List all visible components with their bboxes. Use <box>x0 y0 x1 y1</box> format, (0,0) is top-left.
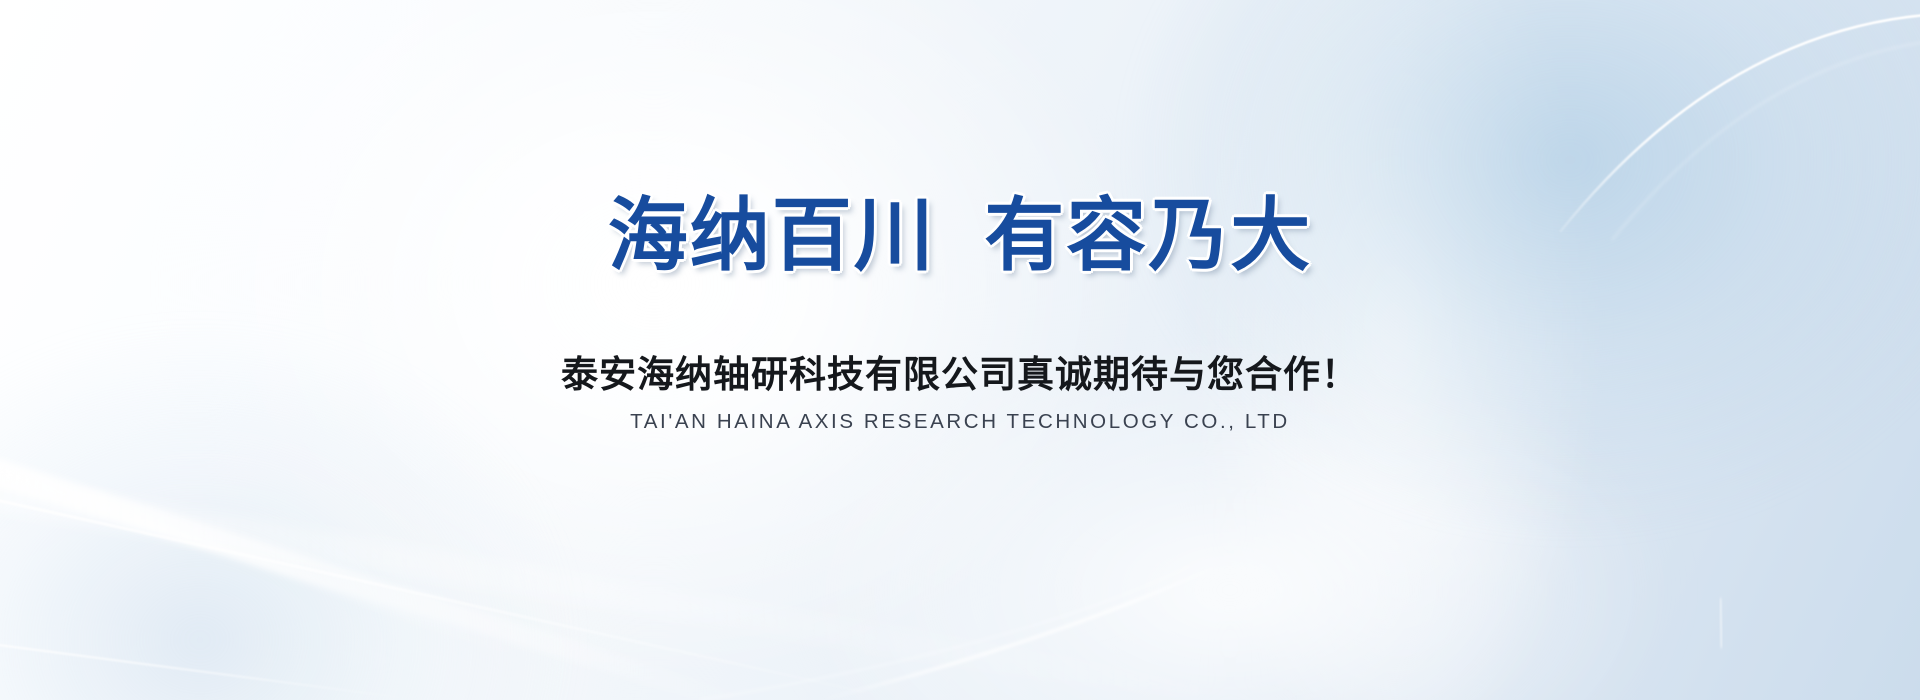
decorative-arc-curves <box>0 0 1920 700</box>
banner-subtitle-english: TAI'AN HAINA AXIS RESEARCH TECHNOLOGY CO… <box>630 410 1290 435</box>
banner-content: 海纳百川 有容乃大 泰安海纳轴研科技有限公司真诚期待与您合作！ TAI'AN H… <box>0 0 1920 700</box>
background-glow-right <box>1180 0 1610 700</box>
background-glow-lower-left <box>0 380 640 700</box>
hero-banner: 海纳百川 有容乃大 泰安海纳轴研科技有限公司真诚期待与您合作！ TAI'AN H… <box>0 0 1920 700</box>
background-glow-center <box>154 0 1154 694</box>
light-streaks-decoration <box>0 0 1920 700</box>
banner-subtitle-chinese: 泰安海纳轴研科技有限公司真诚期待与您合作！ <box>561 354 1359 397</box>
background-tint-bottom-left <box>0 320 580 700</box>
banner-headline: 海纳百川 有容乃大 <box>608 196 1312 276</box>
